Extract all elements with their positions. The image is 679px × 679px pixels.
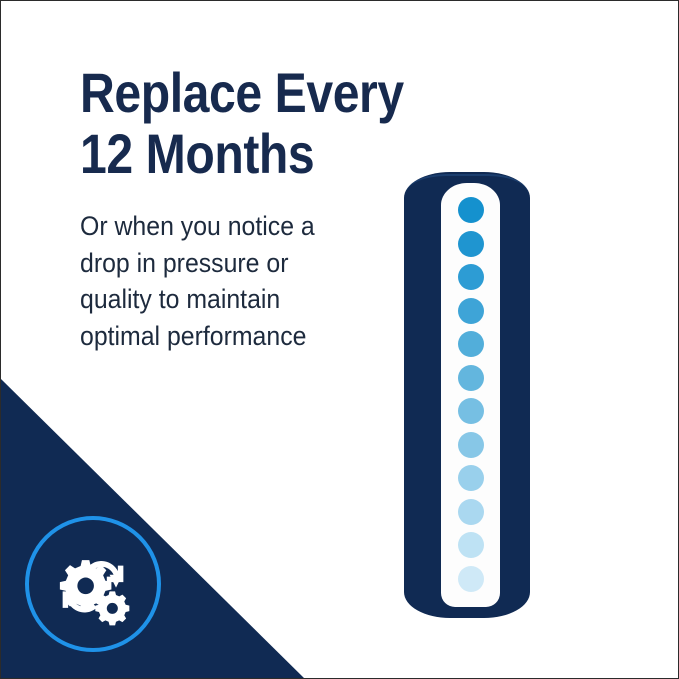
- gears-refresh-cycle-icon: [47, 538, 139, 630]
- filter-dot: [458, 465, 484, 491]
- headline-line-1: Replace Every: [80, 65, 364, 120]
- headline-line-2: 12 Months: [80, 126, 364, 181]
- infographic-canvas: Replace Every 12 Months Or when you noti…: [0, 0, 679, 679]
- filter-dot: [458, 264, 484, 290]
- filter-dot: [458, 432, 484, 458]
- text-block: Replace Every 12 Months Or when you noti…: [80, 65, 410, 355]
- subtext-line-1: Or when you notice a: [80, 182, 384, 245]
- filter-dot: [458, 197, 484, 223]
- filter-dot-column: [441, 183, 500, 607]
- filter-dot: [458, 331, 484, 357]
- subtext-line-4: optimal performance: [80, 318, 384, 355]
- filter-dot: [458, 499, 484, 525]
- filter-dot: [458, 298, 484, 324]
- filter-dot: [458, 566, 484, 592]
- filter-dot: [458, 532, 484, 558]
- gear-refresh-badge: [25, 516, 161, 652]
- filter-dot: [458, 231, 484, 257]
- filter-dot: [458, 365, 484, 391]
- subtext-line-2: drop in pressure or: [80, 245, 384, 282]
- water-filter-cartridge: [404, 172, 530, 618]
- subtext-line-3: quality to maintain: [80, 281, 384, 318]
- filter-dot: [458, 398, 484, 424]
